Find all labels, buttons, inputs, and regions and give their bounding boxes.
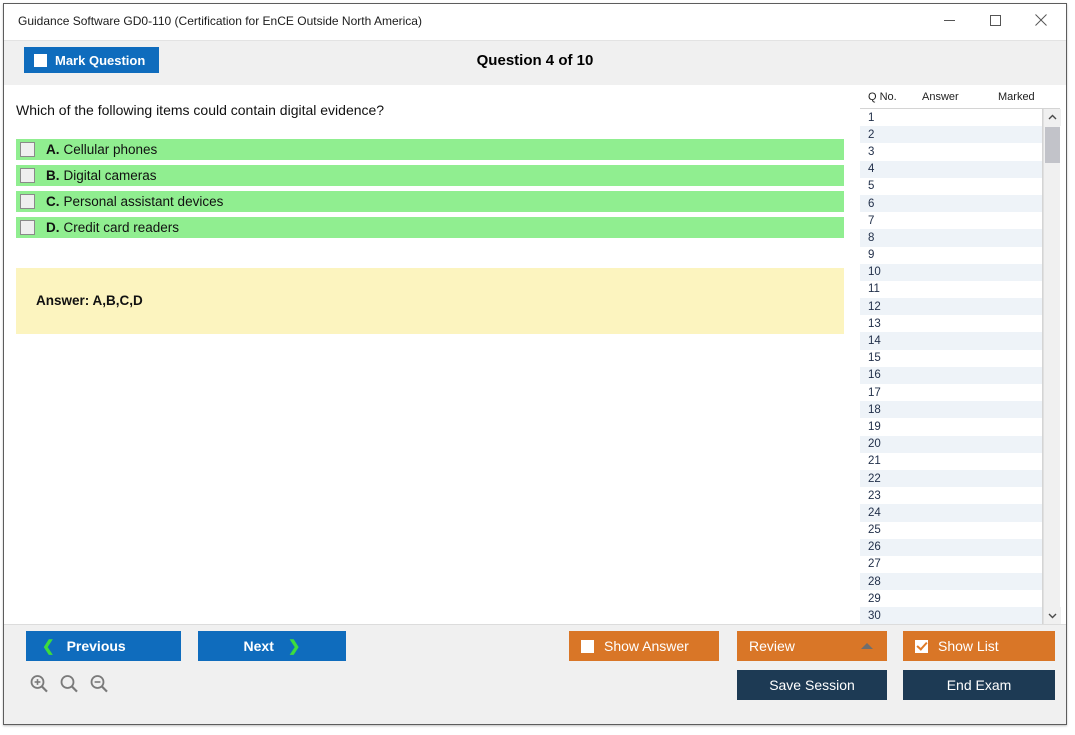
next-button-label: Next: [244, 638, 274, 654]
question-list-qno: 6: [868, 198, 921, 210]
question-list-qno: 24: [868, 507, 921, 519]
question-list-qno: 15: [868, 352, 921, 364]
show-answer-checkbox-icon[interactable]: [581, 640, 594, 653]
question-list-qno: 19: [868, 421, 921, 433]
column-header-marked: Marked: [998, 91, 1035, 103]
previous-button[interactable]: ❮ Previous: [26, 631, 181, 661]
question-list-row[interactable]: 30: [860, 607, 1042, 624]
zoom-reset-icon[interactable]: [58, 673, 80, 700]
question-list-qno: 11: [868, 283, 921, 295]
question-list-row[interactable]: 12: [860, 298, 1042, 315]
scrollbar-thumb[interactable]: [1045, 127, 1060, 163]
question-list-qno: 1: [868, 112, 921, 124]
question-list-qno: 10: [868, 266, 921, 278]
question-list-row[interactable]: 16: [860, 367, 1042, 384]
show-answer-button[interactable]: Show Answer: [569, 631, 719, 661]
question-list-row[interactable]: 15: [860, 350, 1042, 367]
question-list-rows[interactable]: 1234567891011121314151617181920212223242…: [860, 109, 1043, 624]
question-list-row[interactable]: 4: [860, 161, 1042, 178]
end-exam-label: End Exam: [947, 677, 1012, 693]
question-list-row[interactable]: 7: [860, 212, 1042, 229]
question-content-area: Which of the following items could conta…: [4, 85, 854, 624]
question-list-scrollbar[interactable]: [1043, 109, 1060, 624]
answer-option-letter: A.: [46, 142, 60, 157]
question-list-row[interactable]: 8: [860, 229, 1042, 246]
zoom-out-icon[interactable]: [88, 673, 110, 700]
question-list-row[interactable]: 1: [860, 109, 1042, 126]
question-list-qno: 23: [868, 490, 921, 502]
answer-option-letter: D.: [46, 220, 60, 235]
answer-text: Answer: A,B,C,D: [36, 293, 143, 308]
question-list-qno: 26: [868, 541, 921, 553]
chevron-left-icon: ❮: [42, 639, 55, 654]
question-list-row[interactable]: 22: [860, 470, 1042, 487]
answer-option-checkbox[interactable]: [20, 220, 35, 235]
answer-option-checkbox[interactable]: [20, 194, 35, 209]
chevron-up-icon: [861, 643, 873, 649]
show-list-label: Show List: [938, 638, 999, 654]
zoom-in-icon[interactable]: [28, 673, 50, 700]
show-answer-label: Show Answer: [604, 638, 689, 654]
question-list-row[interactable]: 5: [860, 178, 1042, 195]
question-list-row[interactable]: 2: [860, 126, 1042, 143]
question-list-row[interactable]: 3: [860, 143, 1042, 160]
question-list-qno: 3: [868, 146, 921, 158]
zoom-controls: [28, 673, 110, 700]
question-list-qno: 2: [868, 129, 921, 141]
minimize-icon[interactable]: [926, 4, 972, 36]
question-list-qno: 22: [868, 473, 921, 485]
question-list-header: Q No. Answer Marked: [860, 85, 1060, 109]
answer-option-row[interactable]: C.Personal assistant devices: [16, 191, 844, 212]
question-list-qno: 30: [868, 610, 921, 622]
question-list-qno: 7: [868, 215, 921, 227]
answer-option-checkbox[interactable]: [20, 142, 35, 157]
question-list-qno: 5: [868, 180, 921, 192]
answer-reveal-box: Answer: A,B,C,D: [16, 268, 844, 334]
answer-option-row[interactable]: B.Digital cameras: [16, 165, 844, 186]
question-list-row[interactable]: 13: [860, 315, 1042, 332]
answer-option-label: Personal assistant devices: [64, 194, 224, 209]
question-list-qno: 27: [868, 558, 921, 570]
question-list-qno: 16: [868, 369, 921, 381]
next-button[interactable]: Next ❯: [198, 631, 346, 661]
answer-option-checkbox[interactable]: [20, 168, 35, 183]
scroll-up-icon[interactable]: [1044, 109, 1061, 126]
column-header-qno: Q No.: [868, 91, 897, 103]
question-list-row[interactable]: 17: [860, 384, 1042, 401]
question-list-row[interactable]: 29: [860, 590, 1042, 607]
question-list-row[interactable]: 19: [860, 418, 1042, 435]
answer-option-letter: B.: [46, 168, 60, 183]
close-icon[interactable]: [1018, 4, 1064, 36]
question-list-panel: Q No. Answer Marked 12345678910111213141…: [860, 85, 1060, 624]
answer-option-letter: C.: [46, 194, 60, 209]
exam-application-window: Guidance Software GD0-110 (Certification…: [3, 3, 1067, 725]
mark-question-checkbox-icon[interactable]: [34, 54, 47, 67]
answer-option-row[interactable]: A.Cellular phones: [16, 139, 844, 160]
review-dropdown[interactable]: Review: [737, 631, 887, 661]
question-list-qno: 13: [868, 318, 921, 330]
question-list-qno: 8: [868, 232, 921, 244]
question-list-row[interactable]: 20: [860, 436, 1042, 453]
question-counter: Question 4 of 10: [4, 52, 1066, 69]
question-list-qno: 9: [868, 249, 921, 261]
question-list-row[interactable]: 9: [860, 247, 1042, 264]
mark-question-button[interactable]: Mark Question: [24, 47, 159, 73]
answer-options-list: A.Cellular phonesB.Digital camerasC.Pers…: [16, 139, 844, 243]
answer-option-row[interactable]: D.Credit card readers: [16, 217, 844, 238]
question-list-qno: 17: [868, 387, 921, 399]
end-exam-button[interactable]: End Exam: [903, 670, 1055, 700]
show-list-checkbox-icon[interactable]: [915, 640, 928, 653]
question-list-row[interactable]: 18: [860, 401, 1042, 418]
mark-question-label: Mark Question: [55, 53, 145, 68]
question-list-qno: 14: [868, 335, 921, 347]
question-list-qno: 29: [868, 593, 921, 605]
question-list-row[interactable]: 27: [860, 556, 1042, 573]
previous-button-label: Previous: [67, 638, 126, 654]
save-session-button[interactable]: Save Session: [737, 670, 887, 700]
scroll-down-icon[interactable]: [1044, 607, 1061, 624]
answer-option-label: Cellular phones: [64, 142, 158, 157]
save-session-label: Save Session: [769, 677, 855, 693]
title-bar: Guidance Software GD0-110 (Certification…: [4, 4, 1066, 40]
question-list-row[interactable]: 25: [860, 522, 1042, 539]
question-list-qno: 18: [868, 404, 921, 416]
question-list-row[interactable]: 28: [860, 573, 1042, 590]
show-list-button[interactable]: Show List: [903, 631, 1055, 661]
question-list-qno: 20: [868, 438, 921, 450]
question-list-row[interactable]: 24: [860, 504, 1042, 521]
question-list-row[interactable]: 11: [860, 281, 1042, 298]
bottom-toolbar: ❮ Previous Next ❯ Show Answer Review Sho…: [4, 624, 1066, 724]
question-list-row[interactable]: 6: [860, 195, 1042, 212]
chevron-right-icon: ❯: [288, 639, 301, 654]
question-list-qno: 21: [868, 455, 921, 467]
question-list-qno: 4: [868, 163, 921, 175]
question-list-qno: 25: [868, 524, 921, 536]
question-list-row[interactable]: 14: [860, 332, 1042, 349]
question-header-strip: Question 4 of 10 Mark Question: [4, 40, 1066, 85]
question-list-row[interactable]: 23: [860, 487, 1042, 504]
question-list-qno: 12: [868, 301, 921, 313]
question-list-row[interactable]: 21: [860, 453, 1042, 470]
question-list-row[interactable]: 10: [860, 264, 1042, 281]
question-list-row[interactable]: 26: [860, 539, 1042, 556]
question-text: Which of the following items could conta…: [16, 102, 384, 118]
question-list-qno: 28: [868, 576, 921, 588]
answer-option-label: Digital cameras: [64, 168, 157, 183]
column-header-answer: Answer: [922, 91, 959, 103]
window-title: Guidance Software GD0-110 (Certification…: [18, 14, 422, 28]
maximize-icon[interactable]: [972, 4, 1018, 36]
answer-option-label: Credit card readers: [64, 220, 180, 235]
review-dropdown-label: Review: [749, 638, 795, 654]
